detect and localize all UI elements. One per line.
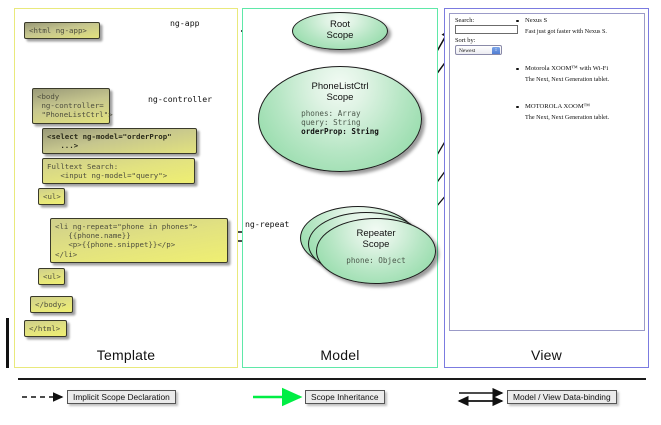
legend-divider bbox=[18, 378, 646, 380]
view-phone-snippet: The Next, Next Generation tablet. bbox=[525, 114, 609, 121]
scope-root-title-line2: Scope bbox=[293, 30, 387, 41]
view-search-input[interactable] bbox=[455, 25, 518, 34]
edge-label-ng-repeat: ng-repeat bbox=[245, 219, 289, 229]
code-box-ul-open: <ul> bbox=[38, 188, 65, 205]
legend-label-implicit-scope-declaration: Implicit Scope Declaration bbox=[67, 390, 176, 404]
view-phone-snippet: The Next, Next Generation tablet. bbox=[525, 76, 609, 83]
column-model: Model bbox=[242, 8, 438, 368]
view-sort-label: Sort by: bbox=[455, 37, 475, 44]
view-phone-name: MOTOROLA XOOM™ bbox=[525, 103, 590, 110]
bullet-icon bbox=[516, 68, 519, 71]
bullet-icon bbox=[516, 106, 519, 109]
code-box-fulltext-search-input: Fulltext Search: <input ng-model="query"… bbox=[42, 158, 195, 184]
scope-phonelistctrl: PhoneListCtrl Scope phones: Array query:… bbox=[258, 66, 422, 172]
view-sort-select[interactable]: Newest ↕ bbox=[455, 45, 502, 55]
column-label-template: Template bbox=[15, 347, 237, 363]
scope-phonelistctrl-title-line2: Scope bbox=[259, 92, 421, 103]
scope-prop-query: query: String bbox=[301, 118, 379, 127]
scope-root: Root Scope bbox=[292, 12, 388, 50]
view-sort-selected-value: Newest bbox=[459, 48, 475, 54]
scope-repeater: Repeater Scope phone: Object bbox=[316, 218, 436, 284]
view-search-label: Search: bbox=[455, 17, 474, 24]
column-label-view: View bbox=[445, 347, 648, 363]
diagram-canvas: Template Model View <html ng-app> <body … bbox=[0, 0, 661, 425]
code-box-body-open: <body ng-controller= "PhoneListCtrl"> bbox=[32, 88, 110, 124]
scope-prop-phones: phones: Array bbox=[301, 109, 379, 118]
code-box-html-open: <html ng-app> bbox=[24, 22, 100, 39]
view-rendered-page bbox=[449, 13, 645, 331]
bullet-icon bbox=[516, 20, 519, 23]
scope-phonelistctrl-title-line1: PhoneListCtrl bbox=[259, 81, 421, 92]
scope-prop-orderprop: orderProp: String bbox=[301, 127, 379, 136]
code-box-body-close: </body> bbox=[30, 296, 73, 313]
code-box-ul-close: <ul> bbox=[38, 268, 65, 285]
column-label-model: Model bbox=[243, 347, 437, 363]
legend-glyph-model-view-data-binding bbox=[459, 393, 502, 401]
view-phone-snippet: Fast just got faster with Nexus S. bbox=[525, 28, 607, 35]
code-box-li-ng-repeat: <li ng-repeat="phone in phones"> {{phone… bbox=[50, 218, 228, 263]
legend-label-scope-inheritance: Scope Inheritance bbox=[305, 390, 385, 404]
scope-repeater-title-line1: Repeater bbox=[317, 228, 435, 239]
scope-repeater-title-line2: Scope bbox=[317, 239, 435, 250]
view-phone-name: Nexus S bbox=[525, 17, 547, 24]
code-box-html-close: </html> bbox=[24, 320, 67, 337]
scope-root-title-line1: Root bbox=[293, 19, 387, 30]
view-phone-name: Motorola XOOM™ with Wi-Fi bbox=[525, 65, 608, 72]
edge-label-ng-controller: ng-controller bbox=[148, 94, 212, 104]
chevron-updown-icon: ↕ bbox=[492, 47, 500, 55]
scope-prop-phone: phone: Object bbox=[346, 256, 405, 265]
edge-label-ng-app: ng-app bbox=[170, 18, 200, 28]
legend-label-model-view-data-binding: Model / View Data-binding bbox=[507, 390, 617, 404]
frame-edge-tick bbox=[6, 318, 9, 368]
code-box-select-ngmodel-orderprop: <select ng-model="orderProp" ...> bbox=[42, 128, 197, 154]
